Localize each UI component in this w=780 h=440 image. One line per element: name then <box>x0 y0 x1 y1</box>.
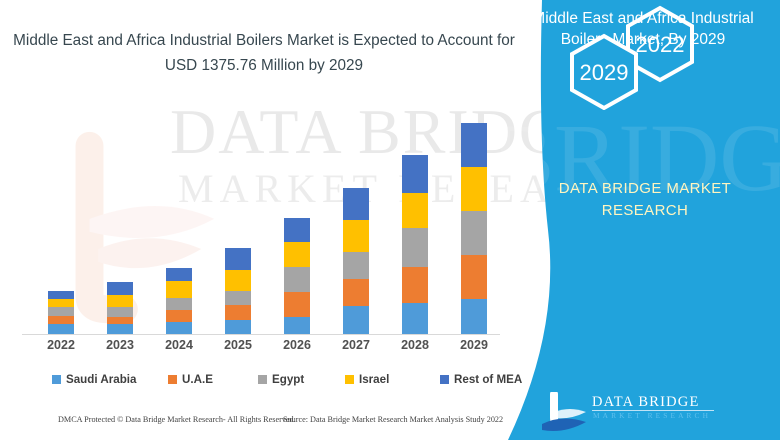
bar-segment-israel[interactable] <box>461 167 487 211</box>
logo-line2: MARKET RESEARCH <box>593 411 711 420</box>
bar-segment-egypt[interactable] <box>343 252 369 279</box>
bar-2025[interactable] <box>225 248 251 334</box>
bar-segment-rest-of-mea[interactable] <box>225 248 251 270</box>
legend-item-israel[interactable]: Israel <box>345 373 389 386</box>
bar-segment-u-a-e[interactable] <box>225 305 251 319</box>
legend-swatch-icon <box>168 375 177 384</box>
right-panel: BRIDGE Middle East and Africa Industrial… <box>500 0 780 440</box>
bar-segment-rest-of-mea[interactable] <box>166 268 192 281</box>
legend-item-egypt[interactable]: Egypt <box>258 373 304 386</box>
chart-legend: Saudi ArabiaU.A.EEgyptIsraelRest of MEA <box>0 373 520 391</box>
hexagon-badges: 2022 2029 <box>500 0 720 110</box>
bar-segment-saudi-arabia[interactable] <box>402 303 428 334</box>
bar-segment-rest-of-mea[interactable] <box>402 155 428 193</box>
x-axis-label-2029: 2029 <box>444 338 504 352</box>
bar-2024[interactable] <box>166 268 192 334</box>
bar-segment-u-a-e[interactable] <box>402 267 428 303</box>
chart-plot-area <box>0 95 520 335</box>
bar-2029[interactable] <box>461 123 487 334</box>
bar-segment-israel[interactable] <box>166 281 192 297</box>
bar-segment-egypt[interactable] <box>284 267 310 292</box>
bar-segment-egypt[interactable] <box>107 307 133 317</box>
bar-segment-saudi-arabia[interactable] <box>284 317 310 334</box>
svg-text:2022: 2022 <box>636 32 685 57</box>
bar-segment-saudi-arabia[interactable] <box>107 324 133 334</box>
bar-segment-u-a-e[interactable] <box>461 255 487 299</box>
footer-dmca-text: DMCA Protected © Data Bridge Market Rese… <box>58 415 296 424</box>
bar-segment-u-a-e[interactable] <box>166 310 192 322</box>
x-axis-label-2023: 2023 <box>90 338 150 352</box>
bar-segment-egypt[interactable] <box>48 307 74 316</box>
bar-segment-egypt[interactable] <box>166 298 192 310</box>
bar-segment-rest-of-mea[interactable] <box>343 188 369 220</box>
x-axis-label-2025: 2025 <box>208 338 268 352</box>
footer: DMCA Protected © Data Bridge Market Rese… <box>0 415 540 435</box>
bar-segment-israel[interactable] <box>284 242 310 267</box>
bar-2022[interactable] <box>48 291 74 334</box>
legend-item-saudi-arabia[interactable]: Saudi Arabia <box>52 373 136 386</box>
bar-segment-rest-of-mea[interactable] <box>48 291 74 299</box>
legend-swatch-icon <box>440 375 449 384</box>
x-axis-label-2027: 2027 <box>326 338 386 352</box>
legend-label: U.A.E <box>182 373 213 386</box>
svg-text:2029: 2029 <box>580 60 629 85</box>
legend-label: Egypt <box>272 373 304 386</box>
x-axis-line <box>22 334 500 335</box>
bar-segment-israel[interactable] <box>107 295 133 307</box>
legend-label: Israel <box>359 373 389 386</box>
bar-segment-rest-of-mea[interactable] <box>284 218 310 242</box>
panel-brand-text: DATA BRIDGE MARKET RESEARCH <box>520 178 770 222</box>
legend-swatch-icon <box>345 375 354 384</box>
footer-source-text: Source: Data Bridge Market Research Mark… <box>283 415 503 424</box>
x-axis-label-2026: 2026 <box>267 338 327 352</box>
bar-segment-egypt[interactable] <box>461 211 487 255</box>
data-bridge-mark-icon <box>540 392 590 434</box>
bar-segment-saudi-arabia[interactable] <box>166 322 192 334</box>
logo-line1: DATA BRIDGE <box>592 394 700 411</box>
legend-swatch-icon <box>258 375 267 384</box>
bar-segment-saudi-arabia[interactable] <box>461 299 487 334</box>
bar-segment-egypt[interactable] <box>402 228 428 266</box>
x-axis-label-2028: 2028 <box>385 338 445 352</box>
bar-segment-u-a-e[interactable] <box>107 317 133 325</box>
bar-2026[interactable] <box>284 218 310 334</box>
legend-label: Saudi Arabia <box>66 373 136 386</box>
bar-segment-israel[interactable] <box>402 193 428 229</box>
bar-segment-u-a-e[interactable] <box>284 292 310 317</box>
infographic-root: DATA BRIDGE MARKET RESEARCH Middle East … <box>0 0 780 440</box>
chart-title: Middle East and Africa Industrial Boiler… <box>8 28 520 78</box>
bar-2027[interactable] <box>343 188 369 334</box>
x-axis-labels: 20222023202420252026202720282029 <box>0 338 520 360</box>
bar-segment-israel[interactable] <box>343 220 369 253</box>
bar-segment-saudi-arabia[interactable] <box>48 324 74 334</box>
data-bridge-logo: DATA BRIDGE MARKET RESEARCH <box>540 392 730 434</box>
legend-swatch-icon <box>52 375 61 384</box>
bar-segment-rest-of-mea[interactable] <box>107 282 133 294</box>
x-axis-label-2022: 2022 <box>31 338 91 352</box>
bar-segment-saudi-arabia[interactable] <box>343 306 369 334</box>
bar-segment-saudi-arabia[interactable] <box>225 320 251 334</box>
bar-segment-rest-of-mea[interactable] <box>461 123 487 167</box>
bar-segment-u-a-e[interactable] <box>48 316 74 325</box>
bar-segment-egypt[interactable] <box>225 291 251 305</box>
bar-segment-u-a-e[interactable] <box>343 279 369 306</box>
bar-2028[interactable] <box>402 155 428 334</box>
bar-segment-israel[interactable] <box>225 270 251 291</box>
bar-2023[interactable] <box>107 282 133 334</box>
legend-item-u-a-e[interactable]: U.A.E <box>168 373 213 386</box>
x-axis-label-2024: 2024 <box>149 338 209 352</box>
bar-segment-israel[interactable] <box>48 299 74 308</box>
